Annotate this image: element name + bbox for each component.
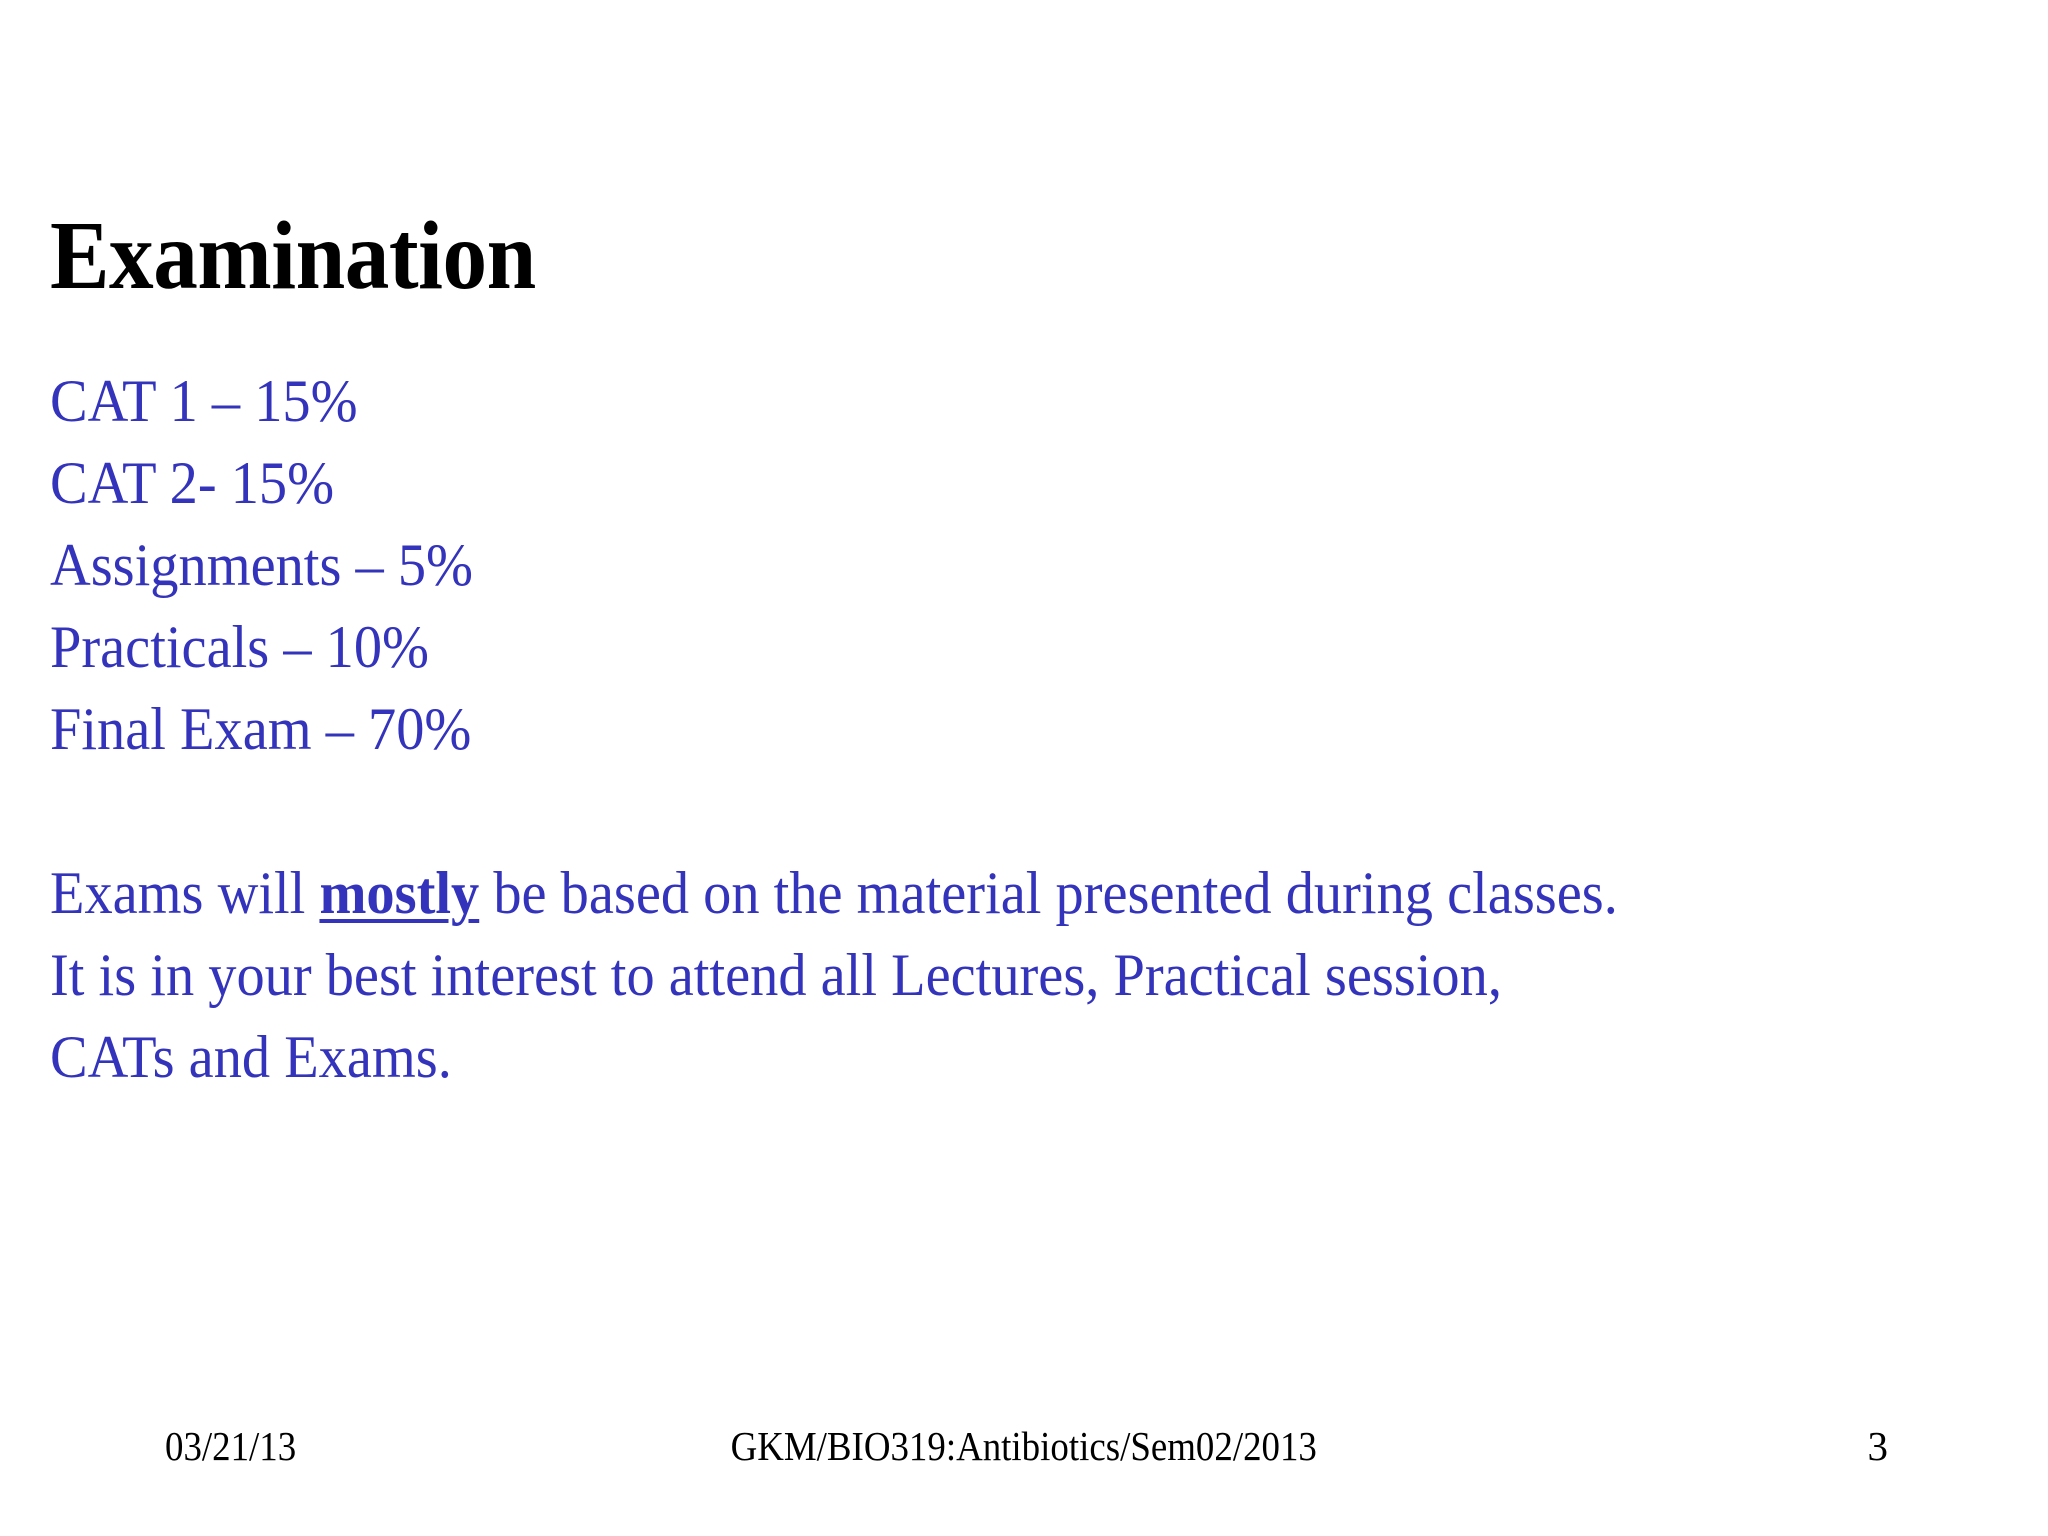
paragraph-line-1-suffix: be based on the material presented durin… [479, 860, 1618, 926]
paragraph-line-1-prefix: Exams will [50, 860, 319, 926]
slide-canvas: Examination CAT 1 – 15% CAT 2- 15% Assig… [0, 0, 2048, 1536]
list-item: CAT 1 – 15% [50, 360, 1883, 442]
footer-course-text: GKM/BIO319:Antibiotics/Sem02/2013 [731, 1420, 1317, 1472]
slide-body: CAT 1 – 15% CAT 2- 15% Assignments – 5% … [50, 360, 1883, 1098]
paragraph-line-1: Exams will mostly be based on the materi… [50, 852, 1883, 934]
page-title: Examination [50, 205, 1798, 307]
grade-breakdown-list: CAT 1 – 15% CAT 2- 15% Assignments – 5% … [50, 360, 1883, 770]
footer-course-label: GKM/BIO319:Antibiotics/Sem02/2013 [0, 1420, 2048, 1472]
list-item: Final Exam – 70% [50, 688, 1883, 770]
paragraph-line-3: CATs and Exams. [50, 1016, 1883, 1098]
slide-footer: 03/21/13 GKM/BIO319:Antibiotics/Sem02/20… [0, 1420, 2048, 1490]
paragraph-line-2: It is in your best interest to attend al… [50, 934, 1883, 1016]
list-item: Practicals – 10% [50, 606, 1883, 688]
paragraph-emphasis-mostly: mostly [319, 860, 479, 926]
list-item: CAT 2- 15% [50, 442, 1883, 524]
list-item: Assignments – 5% [50, 524, 1883, 606]
paragraph-spacer [50, 770, 1883, 852]
exam-note-paragraph: Exams will mostly be based on the materi… [50, 852, 1883, 1098]
footer-page-number: 3 [1868, 1420, 1889, 1472]
